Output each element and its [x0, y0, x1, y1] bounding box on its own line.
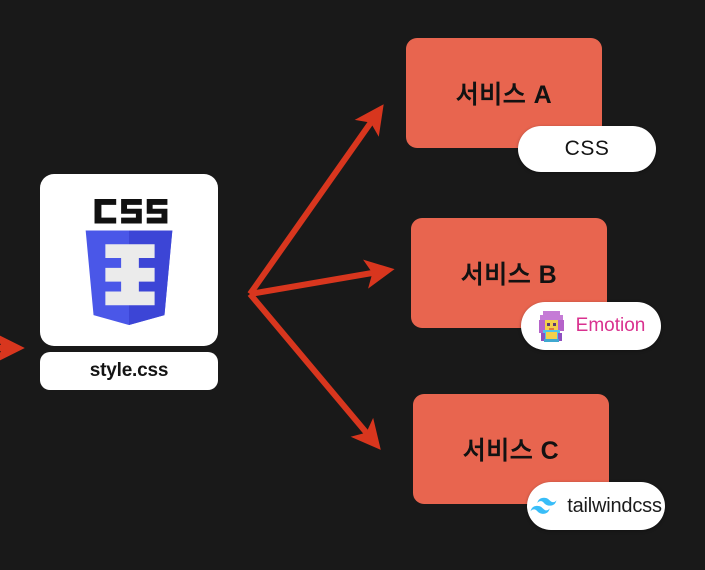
- tech-pill-css-label: CSS: [565, 137, 610, 161]
- tech-pill-emotion[interactable]: Emotion: [521, 302, 661, 350]
- arrow-to-service-b: [250, 272, 378, 294]
- service-title-b: 서비스 B: [461, 255, 558, 291]
- diagram-canvas: style.css 서비스 A CSS 서비스 B Emotion: [0, 0, 705, 570]
- source-file-label: style.css: [40, 352, 218, 390]
- arrow-to-service-c: [250, 294, 370, 437]
- service-title-c: 서비스 C: [463, 431, 560, 467]
- tech-pill-tailwindcss[interactable]: tailwindcss: [527, 482, 665, 530]
- tech-pill-tailwindcss-label: tailwindcss: [567, 495, 662, 518]
- emotion-character-icon: [537, 309, 567, 343]
- service-title-a: 서비스 A: [456, 75, 553, 111]
- source-file-name: style.css: [90, 360, 169, 382]
- tech-pill-emotion-label: Emotion: [576, 315, 646, 337]
- arrow-to-service-a: [250, 118, 374, 294]
- css3-shield-icon: [69, 195, 189, 325]
- source-css-card: [40, 174, 218, 346]
- tailwind-wave-icon: [530, 497, 558, 515]
- tech-pill-css[interactable]: CSS: [518, 126, 656, 172]
